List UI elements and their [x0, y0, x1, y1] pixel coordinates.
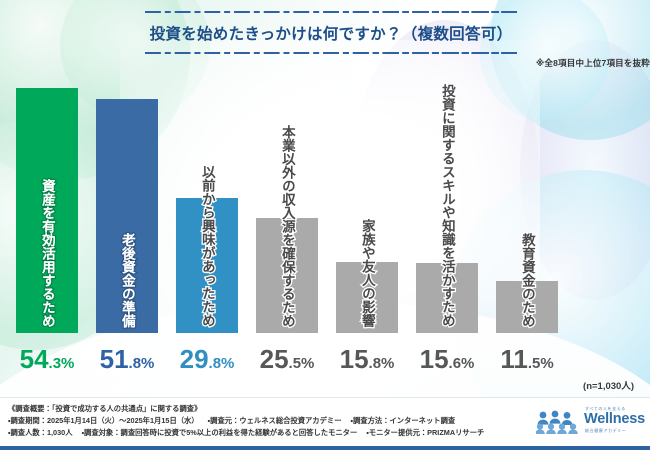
bar-column[interactable]: 老後資金の準備老後資金の準備51.8%: [88, 80, 166, 380]
bar-value-label: 29.8%: [180, 346, 235, 372]
bar-column[interactable]: 資産を有効活用するため資産を有効活用するため54.3%: [8, 80, 86, 380]
bar-chart: 資産を有効活用するため資産を有効活用するため54.3%老後資金の準備老後資金の準…: [0, 80, 650, 380]
footer: 《調査概要：「投資で成功する人の共通点」に関する調査》 ・調査期間：2025年1…: [0, 397, 650, 450]
survey-count: ・調査人数：1,030人: [8, 428, 73, 437]
survey-method: ・調査方法：インターネット調査: [351, 416, 456, 425]
people-icon: [536, 410, 582, 434]
bar-column[interactable]: 本業以外の収入源を確保するため本業以外の収入源を確保するため25.5%: [248, 80, 326, 380]
bar-category-label: 家族や友人の影響家族や友人の影響: [360, 219, 374, 327]
logo-wordmark: Wellness: [584, 412, 645, 427]
bar-column[interactable]: 教育資金のため教育資金のため11.5%: [488, 80, 566, 380]
bar-value-label: 51.8%: [100, 346, 155, 372]
bar-value-label: 54.3%: [20, 346, 75, 372]
footer-line-2: ・調査期間：2025年1月14日（火）〜2025年1月15日（水） ・調査元：ウ…: [8, 415, 491, 427]
title-subnote: ※全8項目中上位7項目を抜粋: [536, 57, 650, 69]
title-rule-bottom: [145, 52, 517, 54]
bar-category-label: 老後資金の準備老後資金の準備: [120, 233, 134, 328]
wellness-logo[interactable]: すべての人を支える Wellness 総合健康アカデミー: [536, 406, 644, 438]
bar-column[interactable]: 投資に関するスキルや知識を活かすため投資に関するスキルや知識を活かすため15.6…: [408, 80, 486, 380]
page-title: 投資を始めたきっかけは何ですか？（複数回答可）: [145, 13, 517, 52]
bar-value-label: 25.5%: [260, 346, 315, 372]
title-block: 投資を始めたきっかけは何ですか？（複数回答可）: [145, 11, 517, 54]
sample-size-label: (n=1,030人): [583, 378, 634, 392]
bar-category-label: 資産を有効活用するため資産を有効活用するため: [40, 179, 54, 328]
survey-source: ・調査元：ウェルネス総合投資アカデミー: [208, 416, 342, 425]
survey-period: ・調査期間：2025年1月14日（火）〜2025年1月15日（水）: [8, 416, 199, 425]
bar-category-label: 投資に関するスキルや知識を活かすため投資に関するスキルや知識を活かすため: [440, 84, 454, 327]
footer-line-3: ・調査人数：1,030人 ・調査対象：調査回答時に投資で5%以上の利益を得た経験…: [8, 427, 491, 439]
bar-value-label: 11.5%: [500, 346, 553, 372]
survey-target: ・調査対象：調査回答時に投資で5%以上の利益を得た経験があると回答したモニター: [82, 428, 358, 437]
bar-category-label: 本業以外の収入源を確保するため本業以外の収入源を確保するため: [280, 125, 294, 328]
bar-column[interactable]: 以前から興味があったため以前から興味があったため29.8%: [168, 80, 246, 380]
bar-category-label: 以前から興味があったため以前から興味があったため: [200, 165, 214, 327]
title-rule-top: [145, 11, 517, 13]
logo-tagline-bottom: 総合健康アカデミー: [585, 428, 626, 434]
bar-category-label: 教育資金のため教育資金のため: [520, 233, 534, 328]
bar-value-label: 15.8%: [340, 346, 395, 372]
monitor-provider: ・モニター提供元：PRIZMAリサーチ: [366, 428, 484, 437]
bar-column[interactable]: 家族や友人の影響家族や友人の影響15.8%: [328, 80, 406, 380]
survey-summary-text: 《調査概要：「投資で成功する人の共通点」に関する調査》 ・調査期間：2025年1…: [8, 403, 491, 438]
bar-value-label: 15.6%: [420, 346, 475, 372]
footer-line-1: 《調査概要：「投資で成功する人の共通点」に関する調査》: [8, 403, 491, 415]
